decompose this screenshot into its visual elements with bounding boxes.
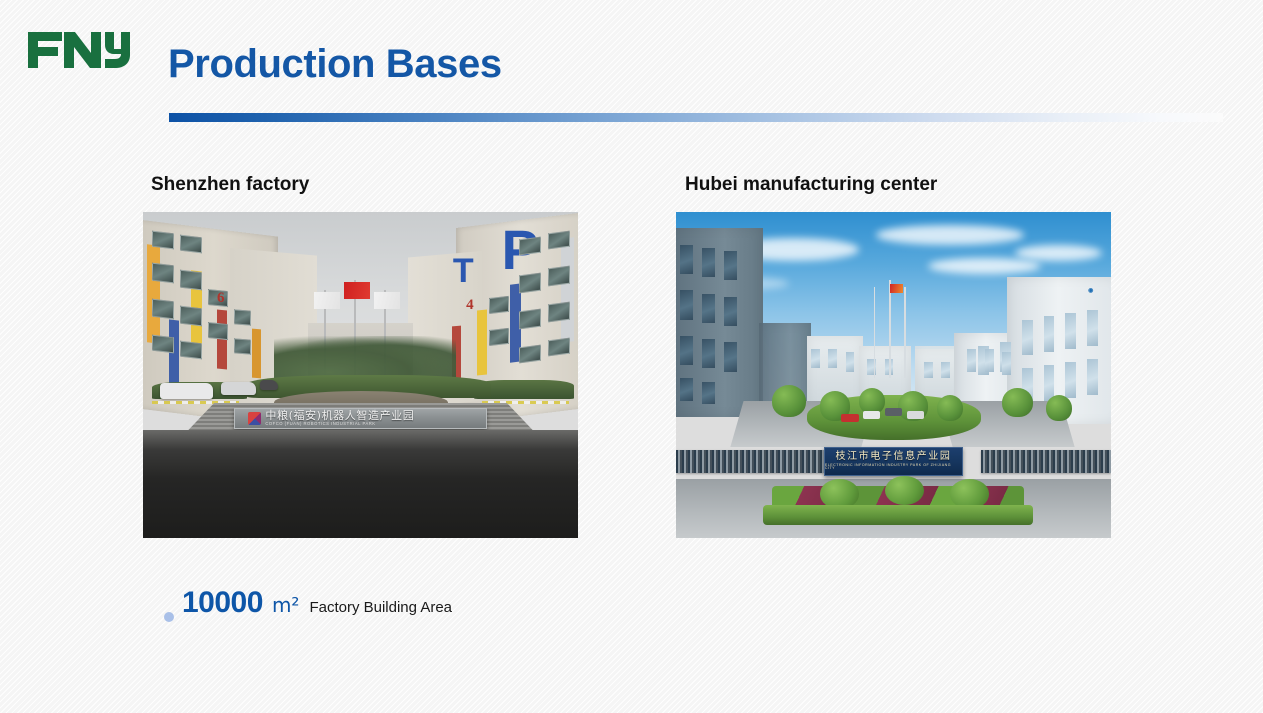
panel-label-shenzhen: Shenzhen factory [151,174,309,196]
cloud [876,225,1024,245]
slide-canvas: Production Bases Shenzhen factory P T [0,0,1263,713]
facade-accent [477,309,487,375]
stat-factory-building-area: 10000 m² Factory Building Area [182,586,452,620]
building-logo-text: ◉ [1088,287,1094,294]
facade-accent [252,329,261,379]
lawn-strip [763,505,1033,525]
page-title: Production Bases [168,41,502,87]
cloud [1015,245,1102,261]
panel-label-hubei: Hubei manufacturing center [685,174,937,196]
flag-pole [904,287,906,378]
stat-value: 10000 [182,586,263,620]
flag-white [374,292,400,309]
tree [1046,395,1072,421]
retractable-gate-right [981,450,1112,473]
flag-white [314,292,340,309]
parked-car [260,380,277,390]
tree [937,395,963,421]
parked-car [841,414,858,422]
photo-shenzhen-factory: P T 6 [143,212,578,538]
facade-accent [147,244,160,343]
stat-unit: m² [272,593,300,617]
stat-bullet-icon [164,612,174,622]
monument-sign-shenzhen: 中粮(福安)机器人智造产业园 COFCO (FUAN) ROBOTICS IND… [234,408,486,429]
sign-text-cn: 中粮(福安)机器人智造产业园 [265,410,414,421]
title-underline-bar [169,113,1223,122]
shrub [950,479,989,508]
monument-sign-hubei: 枝江市电子信息产业园 ELECTRONIC INFORMATION INDUST… [824,447,963,476]
cloud [928,258,1041,274]
flag-china [890,284,903,293]
flag-china [344,282,370,299]
parked-car [160,383,212,399]
parked-car [221,382,256,395]
flag-pole [889,280,891,378]
parked-car [863,411,880,419]
asphalt-foreground [143,430,578,538]
sign-text-cn: 枝江市电子信息产业园 [835,452,951,462]
tree [1002,388,1032,417]
building-number: 4 [466,297,474,314]
building-number: 6 [217,290,225,307]
flag-pole [874,287,876,378]
tree [772,385,807,418]
photo-hubei-manufacturing-center: ◉ [676,212,1111,538]
facade-accent [561,237,574,343]
retractable-gate-left [676,450,824,473]
sign-text-en: COFCO (FUAN) ROBOTICS INDUSTRIAL PARK [265,422,414,426]
shrub [820,479,859,508]
cofco-mark-icon [248,412,261,425]
stat-caption: Factory Building Area [309,599,452,616]
parked-car [907,411,924,419]
parked-car [885,408,902,416]
fny-logo [26,26,130,74]
sign-text-en: ELECTRONIC INFORMATION INDUSTRY PARK OF … [825,464,962,471]
building-signage-letter: T [453,258,474,285]
